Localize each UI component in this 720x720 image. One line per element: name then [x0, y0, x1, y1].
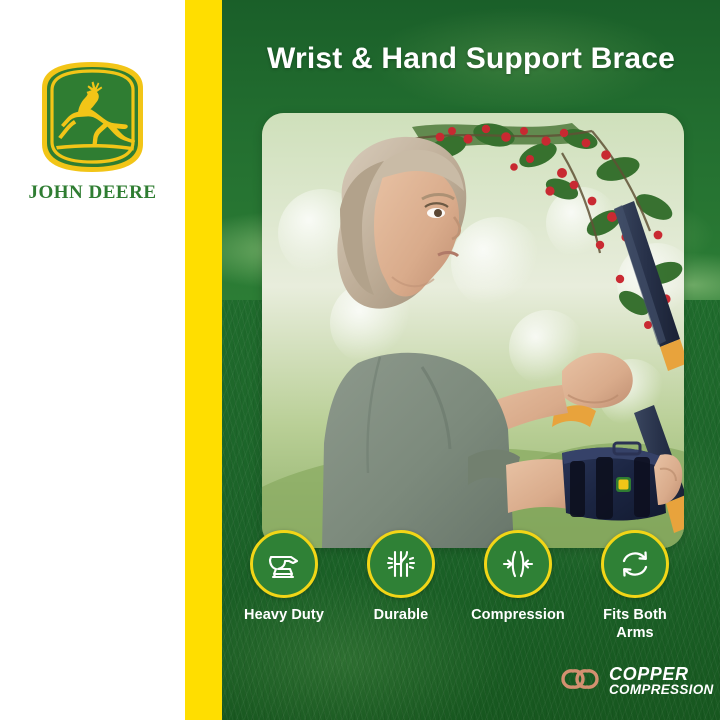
- partner-line2: COMPRESSION: [609, 683, 714, 697]
- product-marketing-image: JOHN DEERE Wrist & Hand Support Brace: [0, 0, 720, 720]
- interlocking-rings-icon: [560, 666, 600, 697]
- feature-durable: Durable: [339, 530, 463, 625]
- anvil-icon: [250, 530, 318, 598]
- cycle-arrows-icon: [601, 530, 669, 598]
- copper-compression-logo: COPPER COMPRESSION: [560, 660, 710, 702]
- feature-heavy-duty: Heavy Duty: [222, 530, 346, 625]
- feature-list: Heavy Duty Durable: [222, 530, 720, 645]
- feature-fits-both-arms: Fits Both Arms: [573, 530, 697, 642]
- yellow-divider-bar: [185, 0, 222, 720]
- brand-panel: JOHN DEERE: [0, 0, 185, 720]
- feature-label: Compression: [456, 607, 580, 625]
- feature-label-line1: Fits Both: [603, 607, 667, 623]
- john-deere-wordmark: JOHN DEERE: [0, 182, 185, 204]
- john-deere-leaping-deer-logo: [30, 58, 155, 176]
- compression-arrows-icon: [484, 530, 552, 598]
- page-title: Wrist & Hand Support Brace: [222, 42, 720, 76]
- feature-label: Durable: [339, 607, 463, 625]
- product-lifestyle-photo: [262, 113, 684, 548]
- copper-compression-wordmark: COPPER COMPRESSION: [609, 665, 714, 697]
- partner-line1: COPPER: [609, 665, 714, 683]
- feature-label: Fits Both Arms: [573, 607, 697, 642]
- feature-compression: Compression: [456, 530, 580, 625]
- feature-label: Heavy Duty: [222, 607, 346, 625]
- fabric-fibers-icon: [367, 530, 435, 598]
- feature-label-line2: Arms: [616, 625, 653, 641]
